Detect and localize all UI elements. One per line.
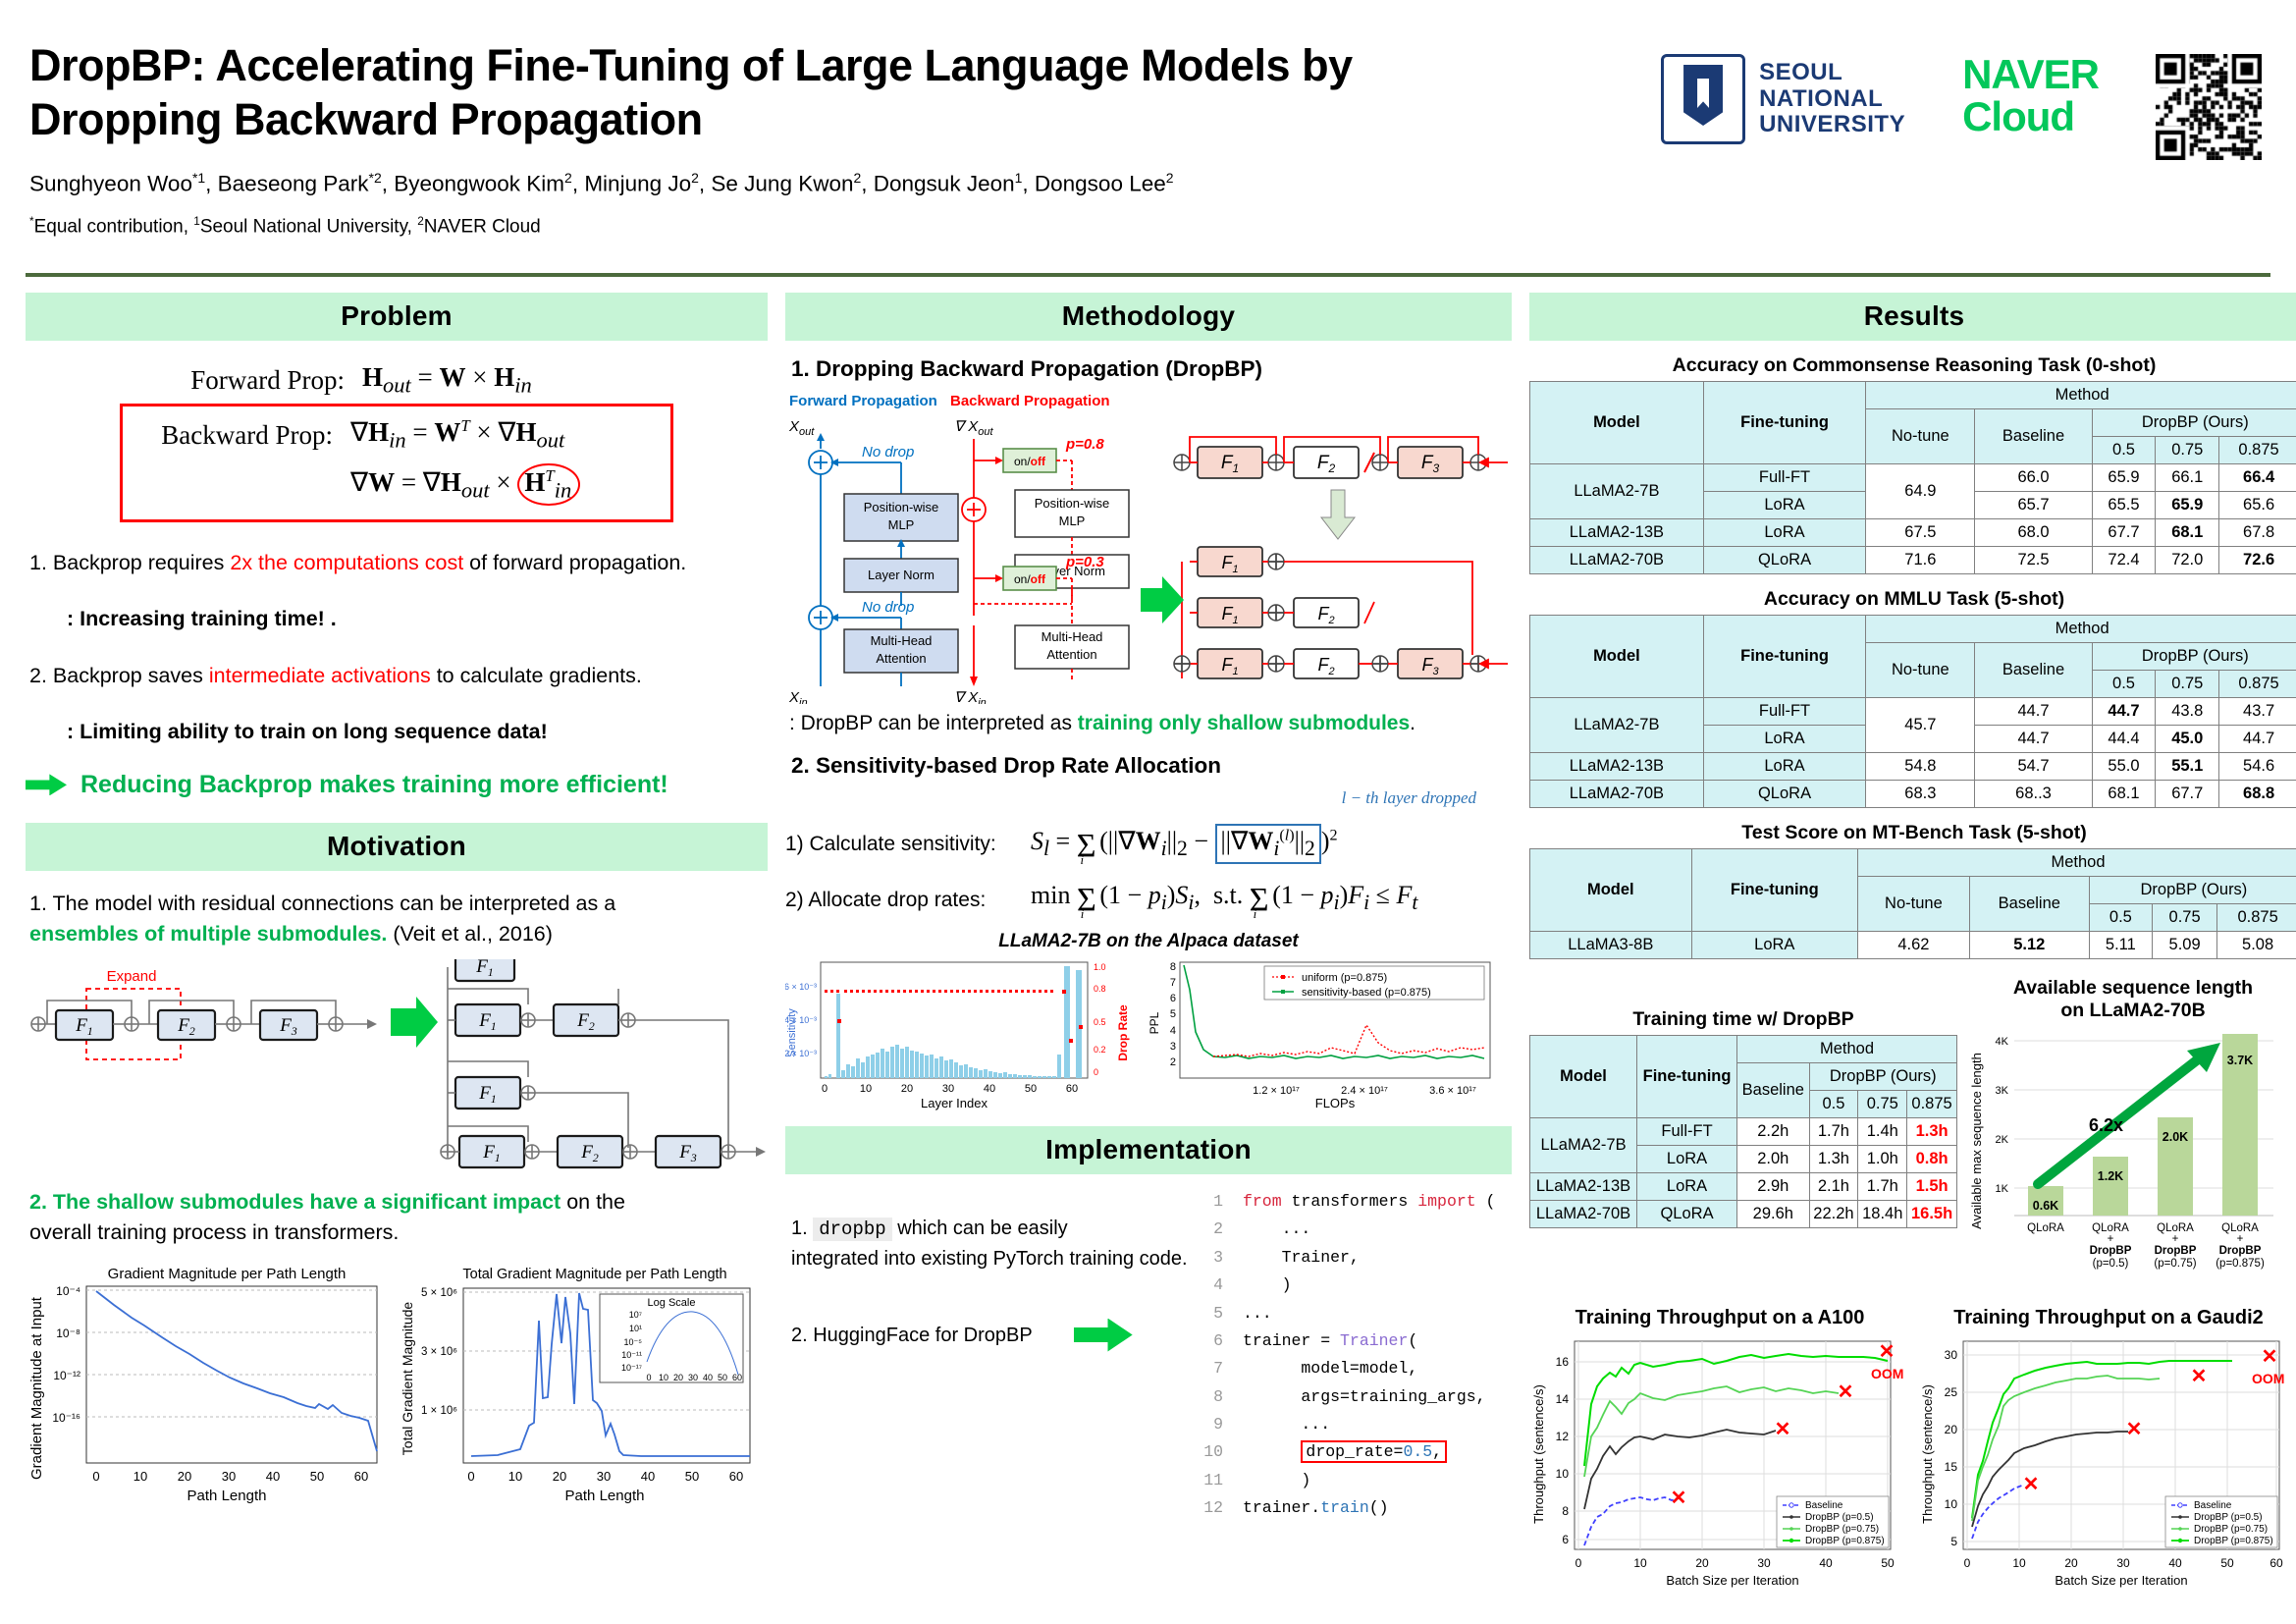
svg-text:8: 8 <box>1170 961 1176 973</box>
svg-text:50: 50 <box>685 1469 699 1484</box>
backward-prop-formula-2: ∇W = ∇Hout × HTin <box>350 463 645 506</box>
dropbp-figure: Forward Propagation Backward Propagation… <box>785 392 1512 704</box>
svg-text:30: 30 <box>597 1469 611 1484</box>
svg-text:10⁻¹²: 10⁻¹² <box>53 1369 80 1382</box>
forward-prop-formula: Hout = W × Hin <box>362 362 657 398</box>
svg-text:✕: ✕ <box>2262 1346 2278 1368</box>
y-axis-label-seq-length: Available max sequence length <box>1969 1053 1984 1229</box>
chart-ppl-flops: PPL 8 7 6 5 4 3 2 uniform (p=0.875) <box>1147 954 1502 1116</box>
svg-text:MLP: MLP <box>888 517 915 532</box>
svg-text:Attention: Attention <box>1046 647 1096 662</box>
svg-text:10: 10 <box>133 1469 147 1484</box>
sequential-chain: F1 F2 F3 <box>31 1001 377 1040</box>
svg-text:10: 10 <box>2012 1556 2026 1570</box>
svg-text:✕: ✕ <box>2126 1419 2143 1440</box>
svg-text:(p=0.75): (p=0.75) <box>2154 1258 2196 1270</box>
table-title-mtbench: Test Score on MT-Bench Task (5-shot) <box>1529 822 2296 844</box>
chart-throughput-a100: Throughput (sentence/s) 16 14 12 10 8 6 <box>1529 1331 1910 1598</box>
sensitivity-step-2: 2) Allocate drop rates: min Σi(1 − pi)Si… <box>785 881 1512 919</box>
svg-text:✕: ✕ <box>1671 1488 1687 1509</box>
svg-text:20: 20 <box>673 1373 683 1382</box>
svg-text:3.6 × 10¹⁷: 3.6 × 10¹⁷ <box>1429 1085 1476 1097</box>
legend-baseline-gaudi2: Baseline <box>2194 1500 2232 1511</box>
table-training-time: Model Fine-tuning Method Baseline DropBP… <box>1529 1035 1957 1228</box>
legend-p075-gaudi2: DropBP (p=0.75) <box>2194 1524 2268 1535</box>
svg-text:DropBP: DropBP <box>2090 1245 2132 1257</box>
legend-p05-a100: DropBP (p=0.5) <box>1805 1512 1874 1523</box>
svg-text:Attention: Attention <box>876 651 926 666</box>
table-row: LLaMA2-7B Full-FT 45.7 44.7 44.7 43.8 43… <box>1530 698 2296 726</box>
backward-path: ∇ Xout on/off p=0.8 Position-wise MLP La… <box>954 418 1129 704</box>
svg-text:✕: ✕ <box>2191 1366 2208 1387</box>
table-row: LLaMA2-13B LoRA 54.8 54.7 55.0 55.1 54.6 <box>1530 753 2296 781</box>
svg-text:50: 50 <box>718 1373 727 1382</box>
backward-propagation-label: Backward Propagation <box>950 393 1110 409</box>
chart-title-throughput-a100: Training Throughput on a A100 <box>1529 1307 1910 1329</box>
svg-text:50: 50 <box>2220 1556 2234 1570</box>
svg-text:30: 30 <box>1945 1348 1958 1362</box>
bar-label-3: 3.7K <box>2227 1054 2253 1067</box>
legend-p075-a100: DropBP (p=0.75) <box>1805 1524 1879 1535</box>
sensitivity-bars <box>825 966 1082 1078</box>
problem-conclusion: Reducing Backprop makes training more ef… <box>26 771 768 799</box>
bar-label-0: 0.6K <box>2033 1199 2058 1213</box>
chart-sensitivity-drop-rate: Sensitivity Drop Rate 0.6 × 10⁻³ 0.4 × 1… <box>785 954 1139 1116</box>
implementation-point-2: 2. HuggingFace for DropBP <box>791 1319 1198 1352</box>
dropbp-package-chip: dropbp <box>813 1218 891 1241</box>
table-row: LLaMA2-13B LoRA 2.9h 2.1h 1.7h 1.5h <box>1530 1173 1957 1201</box>
legend-sensitivity: sensitivity-based (p=0.875) <box>1302 987 1431 999</box>
table-row: LLaMA2-13B LoRA 67.5 68.0 67.7 68.1 67.8 <box>1530 519 2296 547</box>
no-drop-label-2: No drop <box>862 599 914 616</box>
code-line: 8 args=training_args, <box>1198 1383 1495 1411</box>
naver-logo-line1: NAVER <box>1962 51 2099 97</box>
svg-text:10⁷: 10⁷ <box>629 1310 642 1320</box>
svg-text:30: 30 <box>942 1083 954 1095</box>
code-line: 6trainer = Trainer( <box>1198 1327 1495 1355</box>
svg-text:16: 16 <box>1556 1355 1570 1369</box>
p-08-label: p=0.8 <box>1065 436 1104 453</box>
inset-title-log-scale: Log Scale <box>648 1297 696 1309</box>
section-header-motivation: Motivation <box>26 823 768 871</box>
h-in-transpose-circle: HTin <box>517 463 580 506</box>
svg-text:40: 40 <box>1819 1556 1833 1570</box>
chart-throughput-a100-wrap: Training Throughput on a A100 Throughput… <box>1529 1307 1910 1603</box>
svg-text:Multi-Head: Multi-Head <box>871 633 933 648</box>
svg-text:1 × 10⁶: 1 × 10⁶ <box>421 1405 457 1417</box>
chart-throughput-gaudi2: Throughput (sentence/s) 30 25 20 15 10 5 <box>1918 1331 2296 1598</box>
p-03-label: p=0.3 <box>1065 554 1104 570</box>
svg-text:40: 40 <box>2168 1556 2182 1570</box>
svg-text:10⁻¹⁶: 10⁻¹⁶ <box>52 1411 80 1425</box>
bar-dropbp-05 <box>2093 1157 2128 1216</box>
svg-text:0.4 × 10⁻³: 0.4 × 10⁻³ <box>785 1015 817 1025</box>
bar-label-2: 2.0K <box>2163 1130 2188 1144</box>
svg-text:10⁻⁵: 10⁻⁵ <box>624 1337 643 1347</box>
page-title: DropBP: Accelerating Fine-Tuning of Larg… <box>29 39 1463 147</box>
alpaca-charts: Sensitivity Drop Rate 0.6 × 10⁻³ 0.4 × 1… <box>785 954 1512 1116</box>
svg-text:DropBP: DropBP <box>2155 1245 2197 1257</box>
svg-text:20: 20 <box>178 1469 191 1484</box>
svg-text:Multi-Head: Multi-Head <box>1041 629 1103 644</box>
series-baseline <box>1584 1497 1678 1545</box>
svg-text:0.2 × 10⁻³: 0.2 × 10⁻³ <box>785 1049 817 1058</box>
chart-gradient-magnitude: Gradient Magnitude per Path Length Gradi… <box>26 1261 393 1511</box>
svg-text:8: 8 <box>1562 1504 1569 1518</box>
svg-text:Xin: Xin <box>788 689 808 704</box>
implementation-point-1: 1. dropbp which can be easily integrated… <box>791 1214 1198 1273</box>
backward-prop-equation-2: ∇W = ∇Hout × HTin <box>125 463 645 506</box>
drop-rate-step-2-label: 2) Allocate drop rates: <box>785 889 1019 912</box>
svg-text:0: 0 <box>92 1469 99 1484</box>
svg-text:(p=0.5): (p=0.5) <box>2093 1258 2129 1270</box>
svg-text:0: 0 <box>467 1469 474 1484</box>
svg-text:+: + <box>2237 1233 2244 1245</box>
svg-text:DropBP: DropBP <box>2219 1245 2262 1257</box>
results-lower-row: Training time w/ DropBP Model Fine-tunin… <box>1529 977 2296 1293</box>
motivation-point-1: 1. The model with residual connections c… <box>29 889 764 949</box>
svg-text:40: 40 <box>703 1373 713 1382</box>
x-tick-0: QLoRA <box>2027 1222 2064 1234</box>
svg-text:MLP: MLP <box>1059 514 1086 528</box>
legend-p0875-gaudi2: DropBP (p=0.875) <box>2194 1536 2273 1546</box>
x-axis-label-batch-a100: Batch Size per Iteration <box>1666 1573 1798 1588</box>
svg-text:50: 50 <box>310 1469 324 1484</box>
svg-text:0: 0 <box>1964 1556 1971 1570</box>
code-line: 4 ) <box>1198 1272 1495 1299</box>
naver-logo-line2: Cloud <box>1962 93 2074 139</box>
svg-text:3K: 3K <box>1996 1085 2009 1097</box>
drop-rate-points <box>825 990 1083 1043</box>
chart-total-gradient-magnitude: Total Gradient Magnitude per Path Length… <box>399 1261 766 1511</box>
svg-text:25: 25 <box>1945 1385 1958 1399</box>
svg-text:30: 30 <box>222 1469 236 1484</box>
methodology-sub-1: 1. Dropping Backward Propagation (DropBP… <box>791 356 1512 382</box>
y-axis-label-gradient: Gradient Magnitude at Input <box>28 1296 45 1480</box>
chart-title-gradient-magnitude: Gradient Magnitude per Path Length <box>108 1266 347 1282</box>
code-line: 5... <box>1198 1300 1495 1327</box>
sensitivity-step-1-label: 1) Calculate sensitivity: <box>785 833 1019 856</box>
svg-text:2: 2 <box>1170 1056 1176 1068</box>
svg-text:(p=0.875): (p=0.875) <box>2216 1258 2265 1270</box>
poster-header: DropBP: Accelerating Fine-Tuning of Larg… <box>0 0 2296 275</box>
table-mmlu: Model Fine-tuning Method No-tune Baselin… <box>1529 615 2296 808</box>
svg-text:7: 7 <box>1170 977 1176 989</box>
table-row: LLaMA2-70B QLoRA 68.3 68..3 68.1 67.7 68… <box>1530 781 2296 808</box>
logo-row: SEOULNATIONALUNIVERSITY NAVER Cloud <box>1661 54 2262 160</box>
code-line: 11 ) <box>1198 1467 1495 1494</box>
svg-text:14: 14 <box>1556 1392 1570 1406</box>
svg-text:0.6 × 10⁻³: 0.6 × 10⁻³ <box>785 982 817 992</box>
speedup-annotation: 6.2x <box>2089 1115 2123 1135</box>
svg-text:0.5: 0.5 <box>1094 1017 1106 1027</box>
table-title-mmlu: Accuracy on MMLU Task (5-shot) <box>1529 588 2296 611</box>
svg-text:5 × 10⁶: 5 × 10⁶ <box>421 1287 457 1299</box>
svg-text:10⁻⁴: 10⁻⁴ <box>56 1284 80 1298</box>
x-axis-label-layer-index: Layer Index <box>921 1096 988 1110</box>
throughput-charts: Training Throughput on a A100 Throughput… <box>1529 1307 2296 1603</box>
svg-text:2K: 2K <box>1996 1134 2009 1146</box>
svg-text:50: 50 <box>1881 1556 1895 1570</box>
backward-prop-label: Backward Prop: <box>125 420 333 451</box>
sequence-length-block: Available sequence lengthon LLaMA2-70B A… <box>1967 977 2296 1293</box>
svg-text:6: 6 <box>1170 993 1176 1004</box>
chart-throughput-gaudi2-wrap: Training Throughput on a Gaudi2 Throughp… <box>1918 1307 2296 1603</box>
table-row: LLaMA2-70B QLoRA 71.6 72.5 72.4 72.0 72.… <box>1530 547 2296 574</box>
svg-text:10: 10 <box>508 1469 522 1484</box>
code-line: 2 ... <box>1198 1216 1495 1243</box>
oom-label-a100: OOM <box>1871 1366 1903 1381</box>
series-dropbp-075-gaudi2 <box>1972 1376 2160 1521</box>
no-drop-label-1: No drop <box>862 444 914 460</box>
svg-text:60: 60 <box>729 1469 743 1484</box>
code-line: 3 Trainer, <box>1198 1244 1495 1272</box>
code-line-drop-rate: 10 drop_rate=0.5, <box>1198 1438 1495 1466</box>
svg-text:4: 4 <box>1170 1025 1176 1037</box>
svg-text:0: 0 <box>1094 1067 1098 1077</box>
series-baseline-gaudi2 <box>1972 1485 2024 1539</box>
growth-arrow-icon <box>2038 1043 2220 1184</box>
svg-text:1.0: 1.0 <box>1094 962 1106 972</box>
header-divider <box>26 273 2270 277</box>
svg-text:3: 3 <box>1170 1041 1176 1053</box>
column-problem-motivation: Problem Forward Prop: Hout = W × Hin Bac… <box>26 293 768 1618</box>
motivation-charts: Gradient Magnitude per Path Length Gradi… <box>26 1261 768 1511</box>
svg-text:Position-wise: Position-wise <box>1035 496 1110 511</box>
naver-cloud-logo: NAVER Cloud <box>1962 54 2099 138</box>
code-sample: 1from transformers import ( 2 ... 3 Trai… <box>1198 1188 1495 1523</box>
series-dropbp-05-gaudi2 <box>1972 1432 2128 1527</box>
svg-text:∇ Xout: ∇ Xout <box>954 418 993 438</box>
svg-text:✕: ✕ <box>1838 1381 1854 1403</box>
column-results: Results Accuracy on Commonsense Reasonin… <box>1529 293 2296 1618</box>
svg-text:30: 30 <box>1757 1556 1771 1570</box>
motivation-point-2: 2. The shallow submodules have a signifi… <box>29 1187 764 1248</box>
l-th-layer-dropped-note: l − th layer dropped <box>785 788 1476 808</box>
alpaca-chart-title: LLaMA2-7B on the Alpaca dataset <box>785 931 1512 952</box>
svg-text:10⁻⁸: 10⁻⁸ <box>56 1326 80 1340</box>
svg-text:5: 5 <box>1950 1535 1957 1548</box>
table-row: LLaMA3-8B LoRA 4.62 5.12 5.11 5.09 5.08 <box>1530 932 2296 959</box>
svg-text:20: 20 <box>901 1083 913 1095</box>
svg-text:60: 60 <box>732 1373 742 1382</box>
right-arrow-icon <box>26 774 67 795</box>
expand-arrow-icon <box>391 997 438 1048</box>
svg-text:1.2 × 10¹⁷: 1.2 × 10¹⁷ <box>1253 1085 1300 1097</box>
svg-text:✕: ✕ <box>1775 1419 1791 1440</box>
backward-prop-equation-1: Backward Prop: ∇Hin = WT × ∇Hout <box>125 416 645 453</box>
series-dropbp-0875 <box>1584 1354 1888 1466</box>
forward-prop-label: Forward Prop: <box>136 365 345 396</box>
column-methodology: Methodology 1. Dropping Backward Propaga… <box>785 293 1512 1618</box>
svg-text:1K: 1K <box>1996 1183 2009 1195</box>
table-commonsense-reasoning: Model Fine-tuning Method No-tune Baselin… <box>1529 381 2296 574</box>
svg-text:Position-wise: Position-wise <box>864 500 939 514</box>
svg-text:0.2: 0.2 <box>1094 1045 1106 1055</box>
problem-point-2-sub: : Limiting ability to train on long sequ… <box>67 717 764 747</box>
onoff-toggle-2: on/off <box>1014 572 1046 586</box>
problem-conclusion-text: Reducing Backprop makes training more ef… <box>80 771 668 799</box>
svg-text:40: 40 <box>266 1469 280 1484</box>
code-line: 1from transformers import ( <box>1198 1188 1495 1216</box>
code-line: 9 ... <box>1198 1411 1495 1438</box>
svg-text:3 × 10⁶: 3 × 10⁶ <box>421 1346 457 1358</box>
svg-text:10¹: 10¹ <box>629 1324 642 1333</box>
legend-baseline-a100: Baseline <box>1805 1500 1843 1511</box>
backward-prop-formula-1: ∇Hin = WT × ∇Hout <box>350 416 645 453</box>
affiliation-line: *Equal contribution, 1Seoul National Uni… <box>29 215 2267 238</box>
svg-text:20: 20 <box>1945 1423 1958 1436</box>
svg-text:Xout: Xout <box>788 418 815 438</box>
svg-text:10: 10 <box>1633 1556 1647 1570</box>
problem-equations: Forward Prop: Hout = W × Hin Backward Pr… <box>26 362 768 522</box>
author-list: Sunghyeon Woo*1, Baeseong Park*2, Byeong… <box>29 169 2267 199</box>
problem-point-1-sub: : Increasing training time! . <box>67 604 764 634</box>
qr-code-icon[interactable] <box>2156 54 2262 160</box>
backward-prop-highlight-box: Backward Prop: ∇Hin = WT × ∇Hout ∇W = ∇H… <box>120 404 673 522</box>
y2-axis-label-drop-rate: Drop Rate <box>1116 1004 1130 1061</box>
chart-available-sequence-length: Available max sequence length 4K 3K 2K 1… <box>1967 1023 2281 1288</box>
svg-text:40: 40 <box>641 1469 655 1484</box>
svg-text:0: 0 <box>1575 1556 1582 1570</box>
svg-text:20: 20 <box>553 1469 566 1484</box>
svg-text:60: 60 <box>354 1469 368 1484</box>
table-title-training-time: Training time w/ DropBP <box>1529 1008 1957 1031</box>
svg-text:10⁻¹¹: 10⁻¹¹ <box>621 1350 642 1360</box>
y-axis-label-throughput-gaudi2: Throughput (sentence/s) <box>1920 1384 1935 1524</box>
svg-text:6: 6 <box>1562 1533 1569 1546</box>
implementation-text: 1. dropbp which can be easily integrated… <box>785 1188 1198 1523</box>
svg-text:✕: ✕ <box>2023 1474 2040 1495</box>
y-axis-label-ppl: PPL <box>1148 1011 1161 1034</box>
svg-text:+: + <box>2172 1233 2179 1245</box>
series-dropbp-075 <box>1584 1386 1839 1477</box>
legend-uniform: uniform (p=0.875) <box>1302 972 1387 984</box>
residual-ensemble-diagram: Expand F1 F2 <box>26 959 768 1185</box>
oom-label-gaudi2: OOM <box>2252 1371 2284 1386</box>
chart-title-sequence-length: Available sequence lengthon LLaMA2-70B <box>1967 977 2296 1023</box>
svg-text:10: 10 <box>1945 1497 1958 1511</box>
svg-text:0: 0 <box>822 1083 828 1095</box>
sensitivity-step-1: 1) Calculate sensitivity: Sl = Σi(||∇Wi|… <box>785 824 1512 865</box>
section-header-methodology: Methodology <box>785 293 1512 341</box>
svg-text:60: 60 <box>1066 1083 1078 1095</box>
problem-point-1: 1. Backprop requires 2x the computations… <box>29 548 764 578</box>
svg-text:0: 0 <box>646 1373 651 1382</box>
chart-title-total-gradient: Total Gradient Magnitude per Path Length <box>462 1267 726 1282</box>
bar-label-1: 1.2K <box>2098 1169 2123 1183</box>
section-header-problem: Problem <box>26 293 768 341</box>
forward-prop-equation: Forward Prop: Hout = W × Hin <box>26 362 768 398</box>
expand-label: Expand <box>107 968 157 985</box>
table-row: LLaMA2-70B QLoRA 29.6h 22.2h 18.4h 16.5h <box>1530 1201 1957 1228</box>
svg-text:10⁻¹⁷: 10⁻¹⁷ <box>621 1363 642 1373</box>
svg-text:0.8: 0.8 <box>1094 984 1106 994</box>
x-axis-label-flops: FLOPs <box>1315 1096 1356 1110</box>
interpret-arrow-icon <box>1141 576 1184 623</box>
section-header-implementation: Implementation <box>785 1126 1512 1174</box>
training-time-block: Training time w/ DropBP Model Fine-tunin… <box>1529 977 1957 1228</box>
code-line: 12trainer.train() <box>1198 1494 1495 1522</box>
x-axis-label-batch-gaudi2: Batch Size per Iteration <box>2055 1573 2187 1588</box>
svg-text:+: + <box>2108 1233 2114 1245</box>
svg-text:20: 20 <box>2064 1556 2078 1570</box>
svg-text:✕: ✕ <box>1879 1341 1896 1363</box>
table-title-commonsense: Accuracy on Commonsense Reasoning Task (… <box>1529 354 2296 377</box>
seoul-national-university-logo: SEOULNATIONALUNIVERSITY <box>1661 54 1905 144</box>
svg-text:50: 50 <box>1025 1083 1037 1095</box>
table-row: LLaMA2-7B Full-FT 2.2h 1.7h 1.4h 1.3h <box>1530 1118 1957 1146</box>
svg-text:5: 5 <box>1170 1008 1176 1020</box>
y-axis-label-total-gradient: Total Gradient Magnitude <box>400 1301 415 1455</box>
table-row: LLaMA2-7B Full-FT 64.9 66.0 65.9 66.1 66… <box>1530 464 2296 492</box>
drop-rate-formula: min Σi(1 − pi)Si, s.t. Σi(1 − pi)Fi ≤ Ft <box>1031 881 1417 919</box>
svg-text:Layer Norm: Layer Norm <box>868 568 934 582</box>
svg-text:10: 10 <box>860 1083 872 1095</box>
chart-title-throughput-gaudi2: Training Throughput on a Gaudi2 <box>1918 1307 2296 1329</box>
legend-p05-gaudi2: DropBP (p=0.5) <box>2194 1512 2263 1523</box>
snu-crest-icon <box>1661 54 1745 144</box>
implementation-body: 1. dropbp which can be easily integrated… <box>785 1188 1512 1523</box>
y-axis-label-throughput-a100: Throughput (sentence/s) <box>1531 1384 1546 1524</box>
forward-propagation-label: Forward Propagation <box>789 393 937 409</box>
problem-point-2: 2. Backprop saves intermediate activatio… <box>29 661 764 691</box>
x-axis-label-path-length: Path Length <box>187 1488 267 1504</box>
legend-p0875-a100: DropBP (p=0.875) <box>1805 1536 1885 1546</box>
svg-text:12: 12 <box>1556 1430 1570 1443</box>
svg-text:10: 10 <box>659 1373 668 1382</box>
code-line: 7 model=model, <box>1198 1355 1495 1382</box>
methodology-sub-2: 2. Sensitivity-based Drop Rate Allocatio… <box>791 753 1512 779</box>
svg-text:30: 30 <box>2116 1556 2130 1570</box>
oom-markers-gaudi2: ✕ ✕ ✕ ✕ <box>2023 1346 2278 1495</box>
svg-text:60: 60 <box>2269 1556 2283 1570</box>
snu-logo-text: SEOULNATIONALUNIVERSITY <box>1759 60 1905 139</box>
svg-text:∇ Xin: ∇ Xin <box>954 689 987 704</box>
svg-text:20: 20 <box>1695 1556 1709 1570</box>
svg-text:40: 40 <box>984 1083 995 1095</box>
section-header-results: Results <box>1529 293 2296 341</box>
methodology-note: : DropBP can be interpreted as training … <box>789 712 1512 735</box>
expanded-paths: F1 F1 F2 <box>441 959 766 1167</box>
dropbp-block-chain: F1 F2 F3 <box>1141 437 1508 678</box>
svg-text:Path Length: Path Length <box>565 1488 645 1504</box>
svg-text:4K: 4K <box>1996 1036 2009 1048</box>
oom-markers: ✕ ✕ ✕ ✕ <box>1671 1341 1896 1509</box>
onoff-toggle-1: on/off <box>1014 455 1046 468</box>
sensitivity-formula: Sl = Σi(||∇Wi||2 − ||∇Wi(l)||2)2 <box>1031 824 1338 865</box>
forward-path: Xout No drop Position-wise MLP Layer Nor… <box>788 418 958 704</box>
svg-text:10: 10 <box>1556 1467 1570 1481</box>
svg-text:30: 30 <box>688 1373 698 1382</box>
svg-text:15: 15 <box>1945 1460 1958 1474</box>
code-arrow-icon <box>1074 1319 1133 1352</box>
table-mt-bench: Model Fine-tuning Method No-tune Baselin… <box>1529 848 2296 959</box>
